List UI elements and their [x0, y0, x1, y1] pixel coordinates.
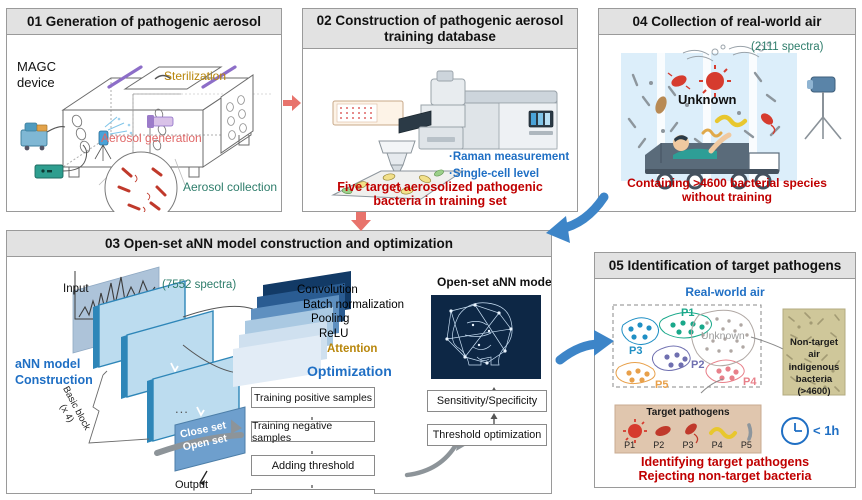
unknown-cluster-label: Unknown [701, 330, 745, 342]
layer-op-attention: Attention [327, 342, 404, 357]
arrow-p01-to-p02 [283, 95, 301, 111]
panel-05-caption: Identifying target pathogens Rejecting n… [595, 455, 855, 484]
sterilization-label: Sterilization [164, 69, 226, 83]
raman-bullets: ·Raman measurement ·Single-cell level [449, 149, 569, 184]
air-sampler-icon [805, 77, 841, 139]
panel-03-body: Input (7552 spectra) aNN model Construct… [7, 257, 551, 494]
panel-01-header: 01 Generation of pathogenic aerosol [7, 9, 281, 35]
pathogen-id-p3: P3 [682, 440, 693, 450]
input-label: Input [63, 283, 89, 295]
target-pathogen-ids: P1 P2 P3 P4 P5 [615, 440, 761, 450]
openmax-label: Openmax [318, 494, 368, 495]
target-pathogens-title: Target pathogens [615, 407, 761, 418]
aerosol-collection-label: Aerosol collection [183, 180, 277, 194]
output-label: Output [175, 479, 208, 491]
sample-slide-icon [333, 101, 403, 125]
aerosol-collection-zoom [99, 152, 185, 212]
cluster-label-p1: P1 [681, 307, 694, 319]
layer-op-relu: ReLU [319, 327, 404, 342]
panel-04-caption: Containing >4600 bacterial species witho… [599, 177, 855, 205]
panel-04-real-world-air: 04 Collection of real-world air [598, 8, 856, 212]
raman-instrument-icon [399, 71, 557, 149]
layer-op-pooling: Pooling [311, 312, 404, 327]
pathogen-id-p1: P1 [624, 440, 635, 450]
flowbox-adding-threshold[interactable]: Adding threshold [251, 455, 375, 476]
panel-05-body: Real-world air [595, 279, 855, 488]
panel-02-training-database: 02 Construction of pathogenic aerosol tr… [302, 8, 578, 212]
flowbox-training-positive-samples[interactable]: Training positive samples [251, 387, 375, 408]
unknown-label: Unknown [678, 92, 737, 107]
non-target-bacteria-label: Non-target air indigenous bacteria (>460… [783, 337, 845, 399]
optimization-title: Optimization [307, 363, 392, 379]
pathogen-id-p5: P5 [741, 440, 752, 450]
panel-05-header: 05 Identification of target pathogens [595, 253, 855, 279]
panel-01-body: MAGC device Sterilization Aerosol genera… [7, 35, 281, 212]
clock-icon [782, 418, 808, 444]
panel-02-header: 02 Construction of pathogenic aerosol tr… [303, 9, 577, 49]
panel-05-identification: 05 Identification of target pathogens Re… [594, 252, 856, 488]
bullet-raman-measurement: ·Raman measurement [449, 149, 569, 166]
layers-ellipsis: ... [175, 401, 189, 416]
spectra-count-note: (2111 spectra) [751, 41, 823, 53]
ann-construction-label: aNN model Construction [15, 357, 93, 388]
cluster-label-p5: P5 [655, 379, 668, 391]
real-world-air-label: Real-world air [595, 285, 855, 299]
spectra-count-note: (7552 spectra) [162, 279, 236, 291]
panel-03-header: 03 Open-set aNN model construction and o… [7, 231, 551, 257]
layer-op-convolution: Convolution [297, 283, 404, 298]
cluster-label-p3: P3 [629, 345, 642, 357]
panel-02-caption: Five target aerosolized pathogenic bacte… [303, 180, 577, 209]
aerosol-generation-label: Aerosol generation [101, 131, 202, 145]
pathogen-id-p4: P4 [712, 440, 723, 450]
layer-op-batch-normalization: Batch normalization [303, 298, 404, 313]
flowbox-threshold-optimization[interactable]: Threshold optimization [427, 424, 547, 446]
panel-01-generation: 01 Generation of pathogenic aerosol [6, 8, 282, 212]
flowbox-training-negative-samples[interactable]: Training negative samples [251, 421, 375, 442]
panel-03-ann-model: 03 Open-set aNN model construction and o… [6, 230, 552, 494]
pathogen-id-p2: P2 [653, 440, 664, 450]
flowbox-softmax-openmax[interactable]: Softmax → Openmax [251, 489, 375, 494]
panel-04-header: 04 Collection of real-world air [599, 9, 855, 35]
panel-04-body: (2111 spectra) Unknown Containing >4600 … [599, 35, 855, 212]
open-set-model-title: Open-set aNN model [437, 275, 551, 289]
arrow-p02-to-p03 [351, 212, 371, 231]
cluster-label-p2: P2 [691, 359, 704, 371]
softmax-label: Softmax [258, 494, 298, 495]
panel-02-body: ·Raman measurement ·Single-cell level Fi… [303, 49, 577, 212]
flowbox-sensitivity-specificity[interactable]: Sensitivity/Specificity [427, 390, 547, 412]
layer-operations-list: Convolution Batch normalization Pooling … [297, 283, 404, 357]
magc-device-label: MAGC device [17, 59, 56, 90]
cluster-label-p4: P4 [743, 376, 756, 388]
right-arrow-icon: → [303, 494, 314, 495]
vacuum-pump-icon [21, 123, 65, 150]
time-label: < 1h [813, 423, 839, 438]
